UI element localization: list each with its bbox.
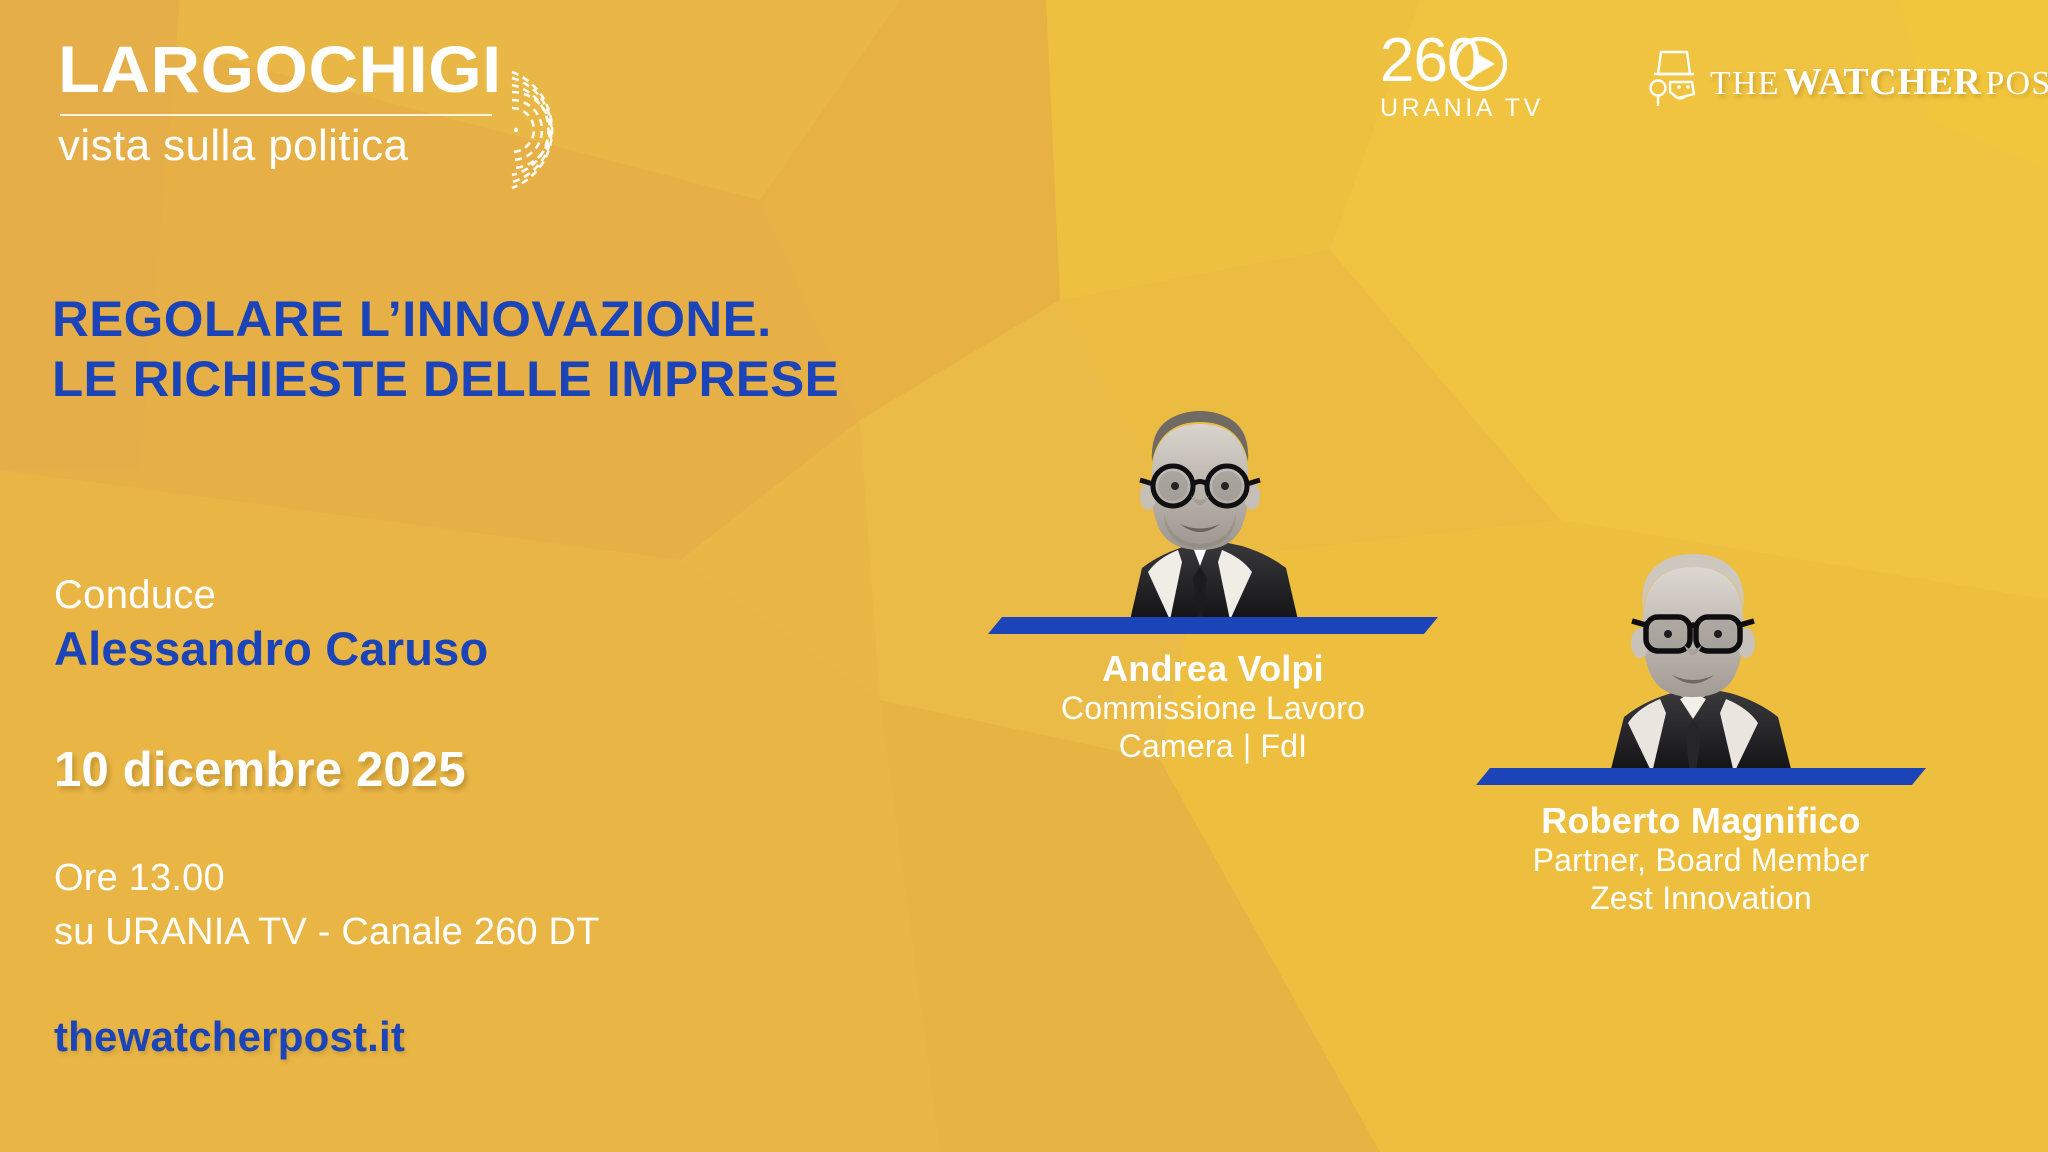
host-label: Conduce [54, 572, 814, 619]
portrait-photo [1548, 545, 1838, 773]
promo-graphic: LARGOCHIGI vista sulla politica REGOLARE… [0, 0, 2048, 1152]
speaker-accent-bar [988, 617, 1438, 634]
portrait-photo [1060, 400, 1340, 620]
play-circle-icon [1452, 36, 1508, 92]
speaker-role-line-1: Partner, Board Member [1426, 842, 1976, 880]
wordmark-watcher: WATCHER [1784, 61, 1982, 103]
speaker-caption: Andrea Volpi Commissione Lavoro Camera |… [938, 648, 1488, 766]
airing-info: Ore 13.00 su URANIA TV - Canale 260 DT [54, 852, 874, 960]
host-name: Alessandro Caruso [54, 621, 814, 677]
top-hat-monocle-icon [1648, 46, 1700, 108]
logo-wordmark: LARGOCHIGI [58, 36, 724, 102]
largochigi-logo: LARGOCHIGI vista sulla politica [58, 36, 698, 191]
logo-divider [60, 114, 492, 116]
watcher-post-wordmark: THE WATCHER POST [1710, 60, 2048, 104]
wordmark-post: POST [1985, 65, 2048, 102]
urania-tv-logo: 260 URANIA TV [1380, 36, 1540, 126]
host-block: Conduce Alessandro Caruso [54, 572, 814, 678]
speaker-accent-bar [1476, 768, 1926, 785]
event-time: Ore 13.00 [54, 852, 874, 906]
event-channel: su URANIA TV - Canale 260 DT [54, 906, 874, 960]
speaker-role-line-1: Commissione Lavoro [938, 690, 1488, 728]
fan-arc-icon [506, 58, 606, 203]
headline-line-1: REGOLARE L’INNOVAZIONE. [52, 290, 970, 350]
channel-name: URANIA TV [1380, 94, 1540, 123]
speaker-role-line-2: Zest Innovation [1426, 880, 1976, 918]
speaker-role-line-2: Camera | FdI [938, 728, 1488, 766]
speaker-name: Andrea Volpi [938, 648, 1488, 690]
page-title: REGOLARE L’INNOVAZIONE. LE RICHIESTE DEL… [52, 290, 970, 409]
wordmark-the: THE [1710, 65, 1780, 102]
event-date: 10 dicembre 2025 [54, 742, 466, 798]
watcher-post-logo: THE WATCHER POST [1648, 44, 2008, 128]
website-link[interactable]: thewatcherpost.it [54, 1013, 405, 1061]
speaker-name: Roberto Magnifico [1426, 800, 1976, 842]
speaker-caption: Roberto Magnifico Partner, Board Member … [1426, 800, 1976, 918]
headline-line-2: LE RICHIESTE DELLE IMPRESE [52, 350, 970, 410]
